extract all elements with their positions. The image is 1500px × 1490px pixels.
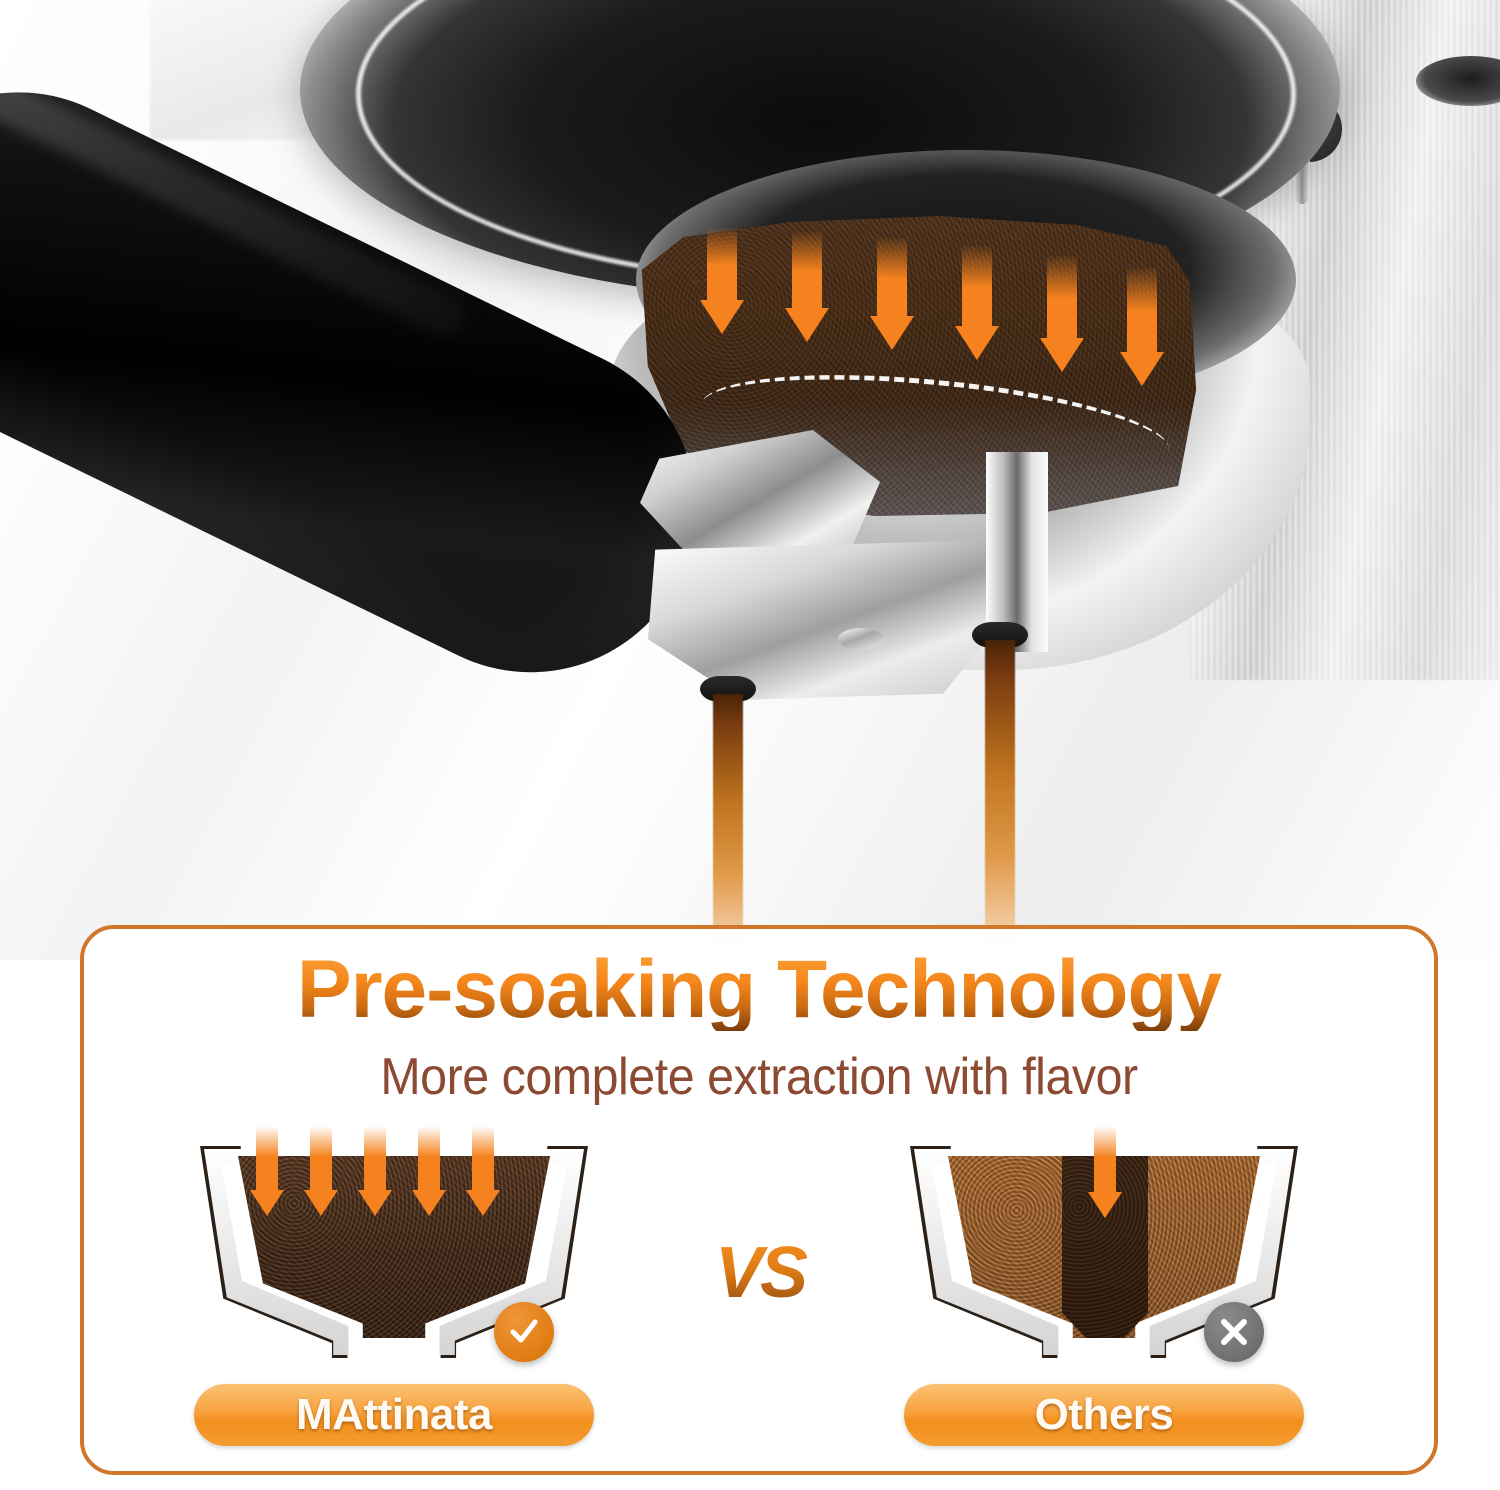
espresso-stream-right: [985, 640, 1015, 960]
page-title: Pre-soaking Technology: [84, 949, 1434, 1031]
brand-pill-label: Others: [1035, 1390, 1174, 1440]
cross-icon: [1215, 1313, 1253, 1351]
pressure-arrow-1: [700, 228, 744, 334]
pressure-arrow-2: [785, 232, 829, 342]
pressure-arrow-4: [955, 246, 999, 360]
pressure-arrow-6: [1120, 268, 1164, 386]
comparison-left: MAttinata: [184, 1134, 604, 1464]
page-subtitle: More complete extraction with flavor: [131, 1047, 1387, 1107]
cross-badge: [1204, 1302, 1264, 1362]
pressure-arrow-3: [870, 238, 914, 350]
brand-pill-label: MAttinata: [296, 1390, 492, 1440]
brand-pill-mattinata[interactable]: MAttinata: [194, 1384, 594, 1446]
flow-arrow-3: [358, 1126, 392, 1216]
product-feature-image: Pre-soaking Technology More complete ext…: [0, 0, 1500, 1490]
spout-screw: [838, 628, 884, 650]
espresso-stream-left: [713, 694, 743, 960]
flow-arrow-1: [1088, 1126, 1122, 1218]
check-badge: [494, 1302, 554, 1362]
comparison-right: Others: [894, 1134, 1314, 1464]
check-icon: [505, 1313, 543, 1351]
portafilter-photo: [0, 0, 1500, 960]
flow-arrow-2: [304, 1126, 338, 1216]
flow-arrow-4: [412, 1126, 446, 1216]
basket-diagram-even: [184, 1134, 604, 1384]
feature-card: Pre-soaking Technology More complete ext…: [80, 925, 1438, 1475]
vs-label: VS: [700, 1232, 820, 1314]
flow-arrow-5: [466, 1126, 500, 1216]
pressure-arrow-5: [1040, 256, 1084, 372]
portafilter-spout-plate: [648, 540, 1008, 700]
basket-diagram-channeling: [894, 1134, 1314, 1384]
flow-arrow-1: [250, 1126, 284, 1216]
brand-pill-others[interactable]: Others: [904, 1384, 1304, 1446]
